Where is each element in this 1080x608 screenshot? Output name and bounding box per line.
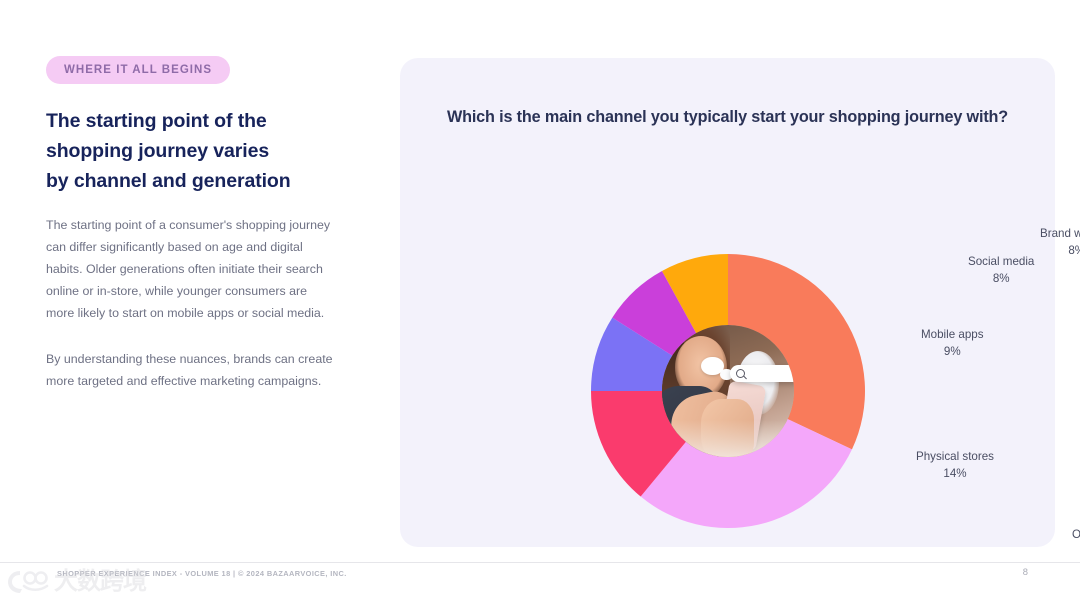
left-content-column: WHERE IT ALL BEGINS The starting point o… bbox=[46, 56, 366, 392]
slice-label-name: Online retailers or marketplace bbox=[1072, 528, 1080, 541]
search-bar-graphic bbox=[730, 365, 793, 382]
slice-label-online-retailers: Online retailers or marketplace 29% bbox=[1072, 526, 1080, 561]
watermark-logo-icon bbox=[6, 566, 52, 596]
slice-label-social-media: Social media 8% bbox=[968, 253, 1034, 288]
slice-label-value: 8% bbox=[1040, 242, 1080, 259]
eyebrow-badge: WHERE IT ALL BEGINS bbox=[46, 56, 230, 84]
footer-text: SHOPPER EXPERIENCE INDEX - VOLUME 18 | ©… bbox=[57, 569, 347, 578]
slice-label-physical-stores: Physical stores 14% bbox=[916, 448, 994, 483]
chart-title: Which is the main channel you typically … bbox=[400, 108, 1055, 127]
slide: WHERE IT ALL BEGINS The starting point o… bbox=[0, 0, 1080, 608]
body-paragraph-1: The starting point of a consumer's shopp… bbox=[46, 214, 336, 324]
footer-divider bbox=[0, 562, 1080, 563]
body-paragraph-2: By understanding these nuances, brands c… bbox=[46, 348, 336, 392]
photo-foreground bbox=[662, 420, 794, 457]
donut-chart bbox=[591, 254, 865, 528]
chart-panel: Which is the main channel you typically … bbox=[400, 58, 1055, 547]
slice-label-name: Physical stores bbox=[916, 450, 994, 463]
slice-label-name: Brand website bbox=[1040, 227, 1080, 240]
watermark-logo-svg bbox=[6, 566, 52, 596]
slice-label-brand-website: Brand website 8% bbox=[1040, 225, 1080, 260]
slice-label-value: 8% bbox=[968, 270, 1034, 287]
slice-label-value: 29% bbox=[1072, 543, 1080, 560]
page-title: The starting point of the shopping journ… bbox=[46, 106, 296, 197]
slice-label-name: Social media bbox=[968, 255, 1034, 268]
page-number: 8 bbox=[1023, 566, 1028, 577]
slice-label-value: 14% bbox=[916, 465, 994, 482]
center-photo bbox=[662, 325, 794, 457]
slice-label-name: Mobile apps bbox=[921, 328, 984, 341]
search-icon bbox=[736, 369, 745, 378]
slice-label-value: 9% bbox=[921, 343, 984, 360]
slice-label-mobile-apps: Mobile apps 9% bbox=[921, 326, 984, 361]
